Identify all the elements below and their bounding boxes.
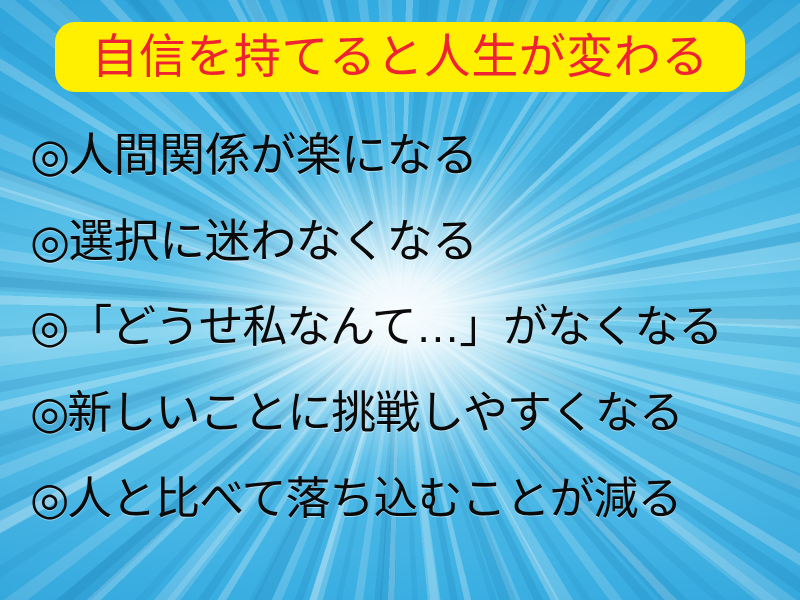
list-item: ◎選択に迷わなくなる <box>30 198 786 284</box>
double-circle-bullet-icon: ◎ <box>30 215 68 267</box>
list-item-label: 選択に迷わなくなる <box>68 215 478 267</box>
double-circle-bullet-icon: ◎ <box>30 473 67 524</box>
list-item-label: 人と比べて落ち込むことが減る <box>67 473 681 524</box>
list-item: ◎新しいことに挑戦しやすくなる <box>30 370 786 456</box>
slide-title: 自信を持てると人生が変わる <box>91 33 709 80</box>
list-item: ◎人間関係が楽になる <box>30 112 786 198</box>
double-circle-bullet-icon: ◎ <box>30 387 67 438</box>
list-item: ◎「どうせ私なんて…」がなくなる <box>30 284 786 370</box>
double-circle-bullet-icon: ◎ <box>30 301 67 352</box>
bullet-list: ◎人間関係が楽になる ◎選択に迷わなくなる ◎「どうせ私なんて…」がなくなる ◎… <box>30 112 786 542</box>
list-item: ◎人と比べて落ち込むことが減る <box>30 456 786 542</box>
slide-canvas: 自信を持てると人生が変わる ◎人間関係が楽になる ◎選択に迷わなくなる ◎「どう… <box>0 0 800 600</box>
list-item-label: 新しいことに挑戦しやすくなる <box>67 387 683 438</box>
double-circle-bullet-icon: ◎ <box>30 129 68 181</box>
list-item-label: 「どうせ私なんて…」がなくなる <box>67 301 722 352</box>
list-item-label: 人間関係が楽になる <box>68 129 478 181</box>
title-banner: 自信を持てると人生が変わる <box>55 22 745 92</box>
